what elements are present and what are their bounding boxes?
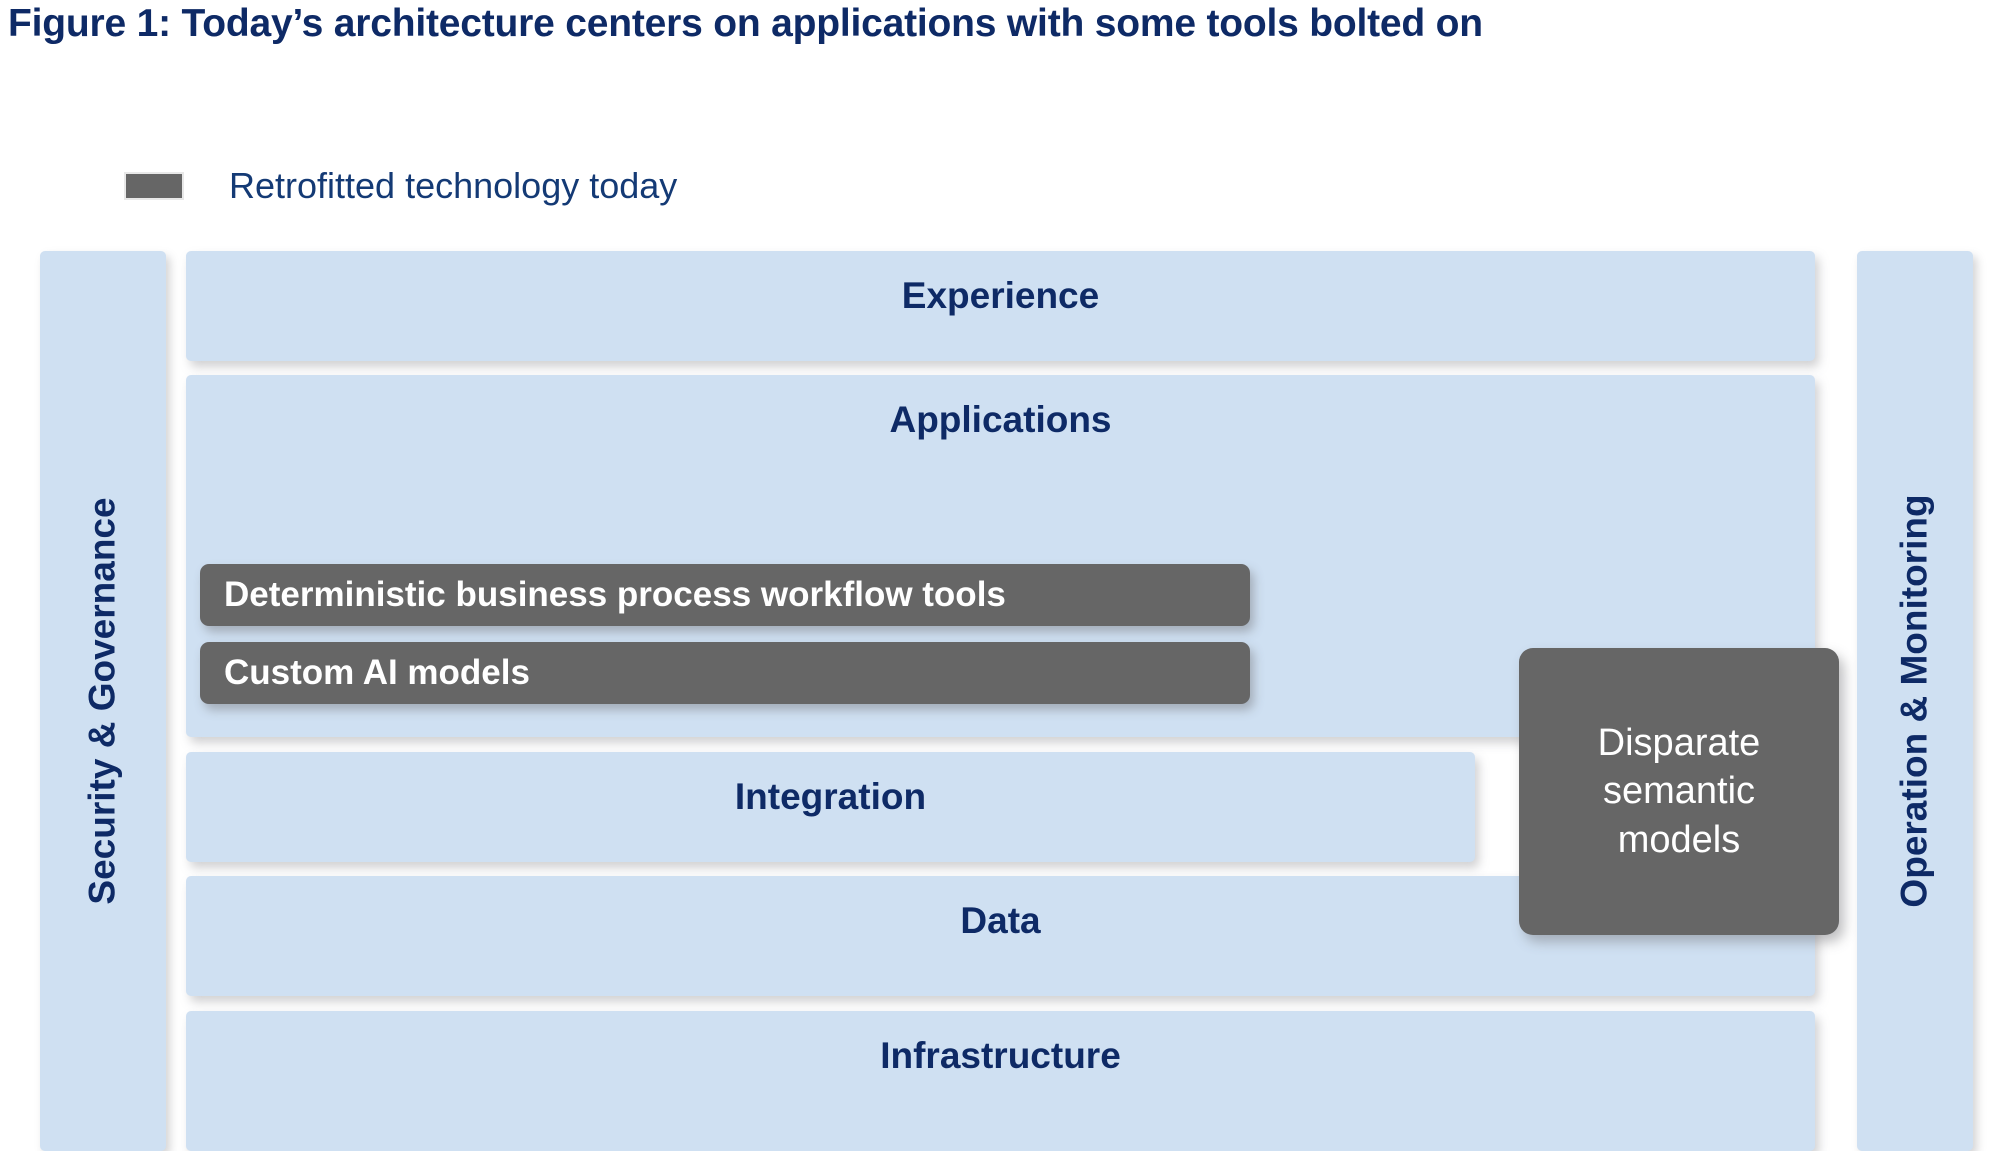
- pillar-operation-monitoring: Operation & Monitoring: [1857, 251, 1973, 1151]
- layer-infrastructure-label: Infrastructure: [186, 1035, 1855, 1077]
- pillar-operation-monitoring-label: Operation & Monitoring: [1894, 494, 1936, 907]
- semantic-models-line-3: models: [1598, 816, 1761, 865]
- retrofit-disparate-semantic-models: Disparate semantic models: [1519, 648, 1839, 935]
- layer-experience: Experience: [186, 251, 1815, 361]
- retrofit-workflow-tools-label: Deterministic business process workflow …: [200, 575, 1006, 615]
- retrofit-custom-ai-models-label: Custom AI models: [200, 653, 530, 693]
- pillar-security-governance: Security & Governance: [40, 251, 166, 1151]
- architecture-diagram: Security & Governance Operation & Monito…: [0, 0, 1999, 1125]
- layer-integration: Integration: [186, 752, 1475, 862]
- layer-applications-label: Applications: [186, 399, 1855, 441]
- layer-integration-label: Integration: [186, 776, 1475, 818]
- retrofit-workflow-tools: Deterministic business process workflow …: [200, 564, 1250, 626]
- semantic-models-line-2: semantic: [1598, 767, 1761, 816]
- layer-experience-label: Experience: [186, 275, 1855, 317]
- layer-infrastructure: Infrastructure: [186, 1011, 1815, 1151]
- pillar-security-governance-label: Security & Governance: [82, 497, 124, 904]
- semantic-models-line-1: Disparate: [1598, 719, 1761, 768]
- retrofit-disparate-semantic-models-label: Disparate semantic models: [1598, 719, 1761, 865]
- retrofit-custom-ai-models: Custom AI models: [200, 642, 1250, 704]
